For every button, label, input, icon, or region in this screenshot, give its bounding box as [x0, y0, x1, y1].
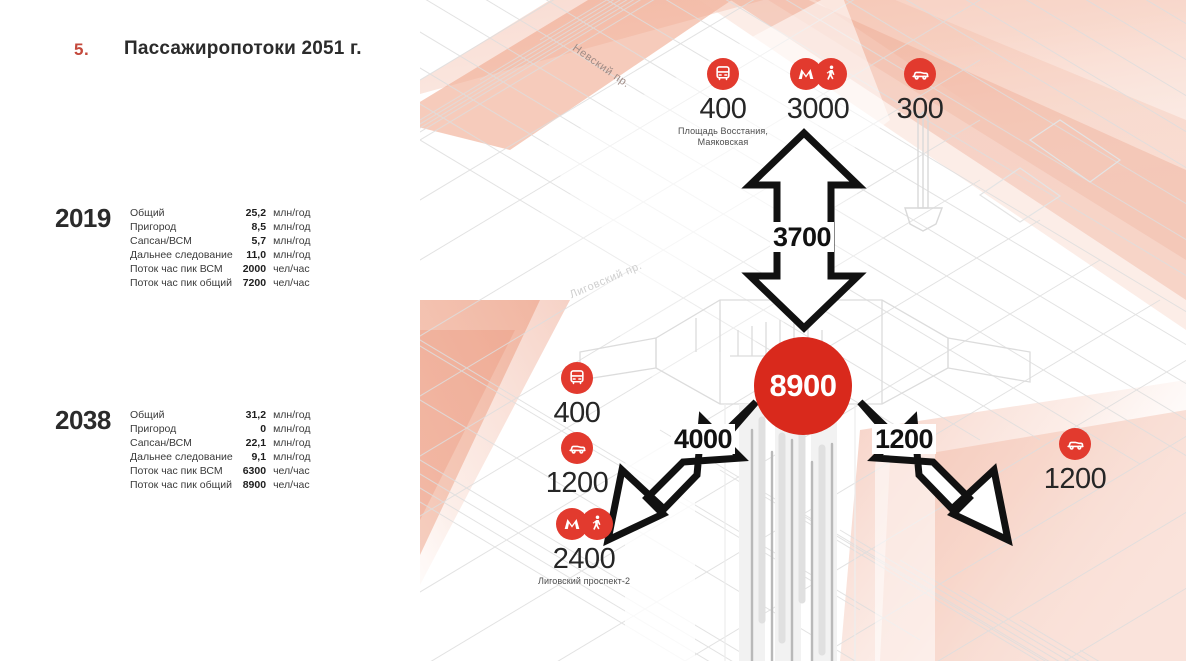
- stats-table-2019: Общий 25,2 млн/год Пригород 8,5 млн/год …: [130, 207, 310, 290]
- stat-label: Общий: [130, 409, 243, 423]
- stat-unit: млн/год: [273, 249, 310, 263]
- table-row: Сапсан/ВСМ 5,7 млн/год: [130, 235, 310, 249]
- marker-metro-west[interactable]: 2400 Лиговский проспект-2: [510, 508, 658, 587]
- marker-value: 1200: [1020, 463, 1130, 495]
- platform-tracks: [725, 404, 855, 661]
- marker-value: 400: [678, 93, 768, 125]
- marker-bus-north[interactable]: 400 Площадь Восстания,Маяковская: [678, 58, 768, 148]
- marker-value: 3000: [758, 93, 878, 125]
- table-row: Сапсан/ВСМ 22,1 млн/год: [130, 437, 310, 451]
- stat-unit: млн/год: [273, 423, 310, 437]
- stat-unit: чел/час: [273, 277, 310, 291]
- car-icon: [1059, 428, 1091, 460]
- stat-value: 0: [243, 423, 273, 437]
- slide-number: 5.: [74, 40, 89, 60]
- stat-unit: млн/год: [273, 221, 310, 235]
- stat-label: Поток час пик общий: [130, 479, 243, 493]
- table-row: Поток час пик общий 7200 чел/час: [130, 277, 310, 291]
- stat-label: Сапсан/ВСМ: [130, 235, 243, 249]
- hub-total-badge: 8900: [754, 337, 852, 435]
- stat-unit: чел/час: [273, 465, 310, 479]
- stat-unit: млн/год: [273, 207, 310, 221]
- table-row: Дальнее следование 11,0 млн/год: [130, 249, 310, 263]
- stat-label: Поток час пик ВСМ: [130, 465, 243, 479]
- stat-label: Поток час пик общий: [130, 277, 243, 291]
- stat-label: Дальнее следование: [130, 451, 243, 465]
- marker-car-east[interactable]: 1200: [1020, 428, 1130, 495]
- slide-page: 5. Пассажиропотоки 2051 г. 2019 Общий 25…: [0, 0, 1186, 661]
- table-row: Общий 25,2 млн/год: [130, 207, 310, 221]
- bus-icon: [561, 362, 593, 394]
- marker-metro-north[interactable]: 3000: [758, 58, 878, 125]
- marker-value: 1200: [527, 467, 627, 499]
- stats-year-label: 2019: [55, 203, 111, 234]
- icon-pair: [758, 58, 878, 90]
- page-title: Пассажиропотоки 2051 г.: [124, 38, 362, 60]
- flow-label-north: 3700: [770, 222, 834, 252]
- stat-unit: млн/год: [273, 451, 310, 465]
- table-row: Поток час пик ВСМ 6300 чел/час: [130, 465, 310, 479]
- car-icon: [904, 58, 936, 90]
- marker-car-west[interactable]: 1200: [527, 432, 627, 499]
- flow-label-southwest: 4000: [671, 424, 735, 454]
- marker-bus-west[interactable]: 400: [527, 362, 627, 429]
- stat-value: 9,1: [243, 451, 273, 465]
- marker-value: 400: [527, 397, 627, 429]
- stat-value: 8900: [243, 479, 273, 493]
- stat-unit: млн/год: [273, 437, 310, 451]
- bus-icon: [707, 58, 739, 90]
- stat-value: 31,2: [243, 409, 273, 423]
- stat-label: Общий: [130, 207, 243, 221]
- table-row: Пригород 8,5 млн/год: [130, 221, 310, 235]
- stat-label: Пригород: [130, 423, 243, 437]
- stat-value: 7200: [243, 277, 273, 291]
- stat-value: 6300: [243, 465, 273, 479]
- left-info-panel: 5. Пассажиропотоки 2051 г. 2019 Общий 25…: [0, 0, 420, 661]
- stat-unit: чел/час: [273, 263, 310, 277]
- table-row: Общий 31,2 млн/год: [130, 409, 310, 423]
- stat-unit: чел/час: [273, 479, 310, 493]
- stat-value: 5,7: [243, 235, 273, 249]
- stat-unit: млн/год: [273, 235, 310, 249]
- stats-table-2038: Общий 31,2 млн/год Пригород 0 млн/год Са…: [130, 409, 310, 492]
- flow-label-southeast: 1200: [872, 424, 936, 454]
- pedestrian-icon: [815, 58, 847, 90]
- table-row: Пригород 0 млн/год: [130, 423, 310, 437]
- stat-unit: млн/год: [273, 409, 310, 423]
- stat-label: Сапсан/ВСМ: [130, 437, 243, 451]
- stat-label: Поток час пик ВСМ: [130, 263, 243, 277]
- stat-value: 11,0: [243, 249, 273, 263]
- icon-pair: [510, 508, 658, 540]
- table-row: Поток час пик общий 8900 чел/час: [130, 479, 310, 493]
- marker-sublabel: Площадь Восстания,Маяковская: [678, 126, 768, 148]
- hub-value: 8900: [770, 368, 837, 404]
- stat-label: Дальнее следование: [130, 249, 243, 263]
- stat-value: 2000: [243, 263, 273, 277]
- marker-value: 300: [875, 93, 965, 125]
- isometric-map: Невский пр. Лиговский пр. 8900 3700 4000…: [420, 0, 1186, 661]
- stat-value: 25,2: [243, 207, 273, 221]
- stat-label: Пригород: [130, 221, 243, 235]
- pedestrian-icon: [581, 508, 613, 540]
- table-row: Поток час пик ВСМ 2000 чел/час: [130, 263, 310, 277]
- stats-year-label: 2038: [55, 405, 111, 436]
- marker-value: 2400: [510, 543, 658, 575]
- stat-value: 8,5: [243, 221, 273, 235]
- marker-car-north[interactable]: 300: [875, 58, 965, 125]
- stat-value: 22,1: [243, 437, 273, 451]
- car-icon: [561, 432, 593, 464]
- table-row: Дальнее следование 9,1 млн/год: [130, 451, 310, 465]
- marker-sublabel: Лиговский проспект-2: [510, 576, 658, 587]
